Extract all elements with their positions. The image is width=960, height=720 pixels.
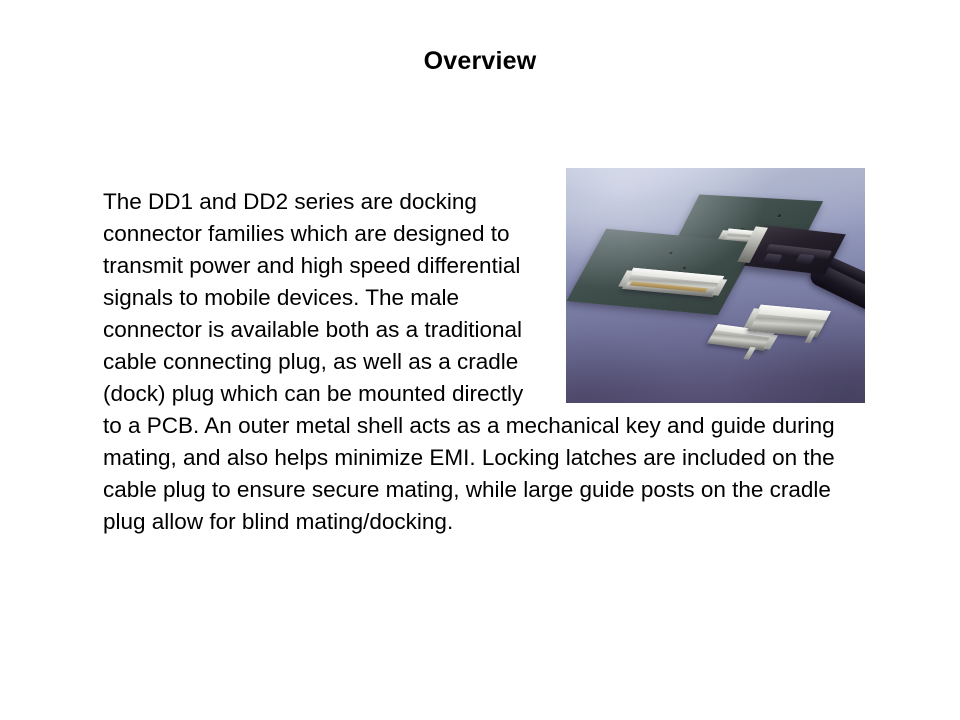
slide-body: The DD1 and DD2 series are docking conne… (103, 186, 865, 538)
page-title: Overview (0, 47, 960, 76)
docking-connector-product-photo (566, 168, 865, 403)
photo-lighting-overlay (566, 168, 865, 403)
slide: Overview (0, 0, 960, 720)
